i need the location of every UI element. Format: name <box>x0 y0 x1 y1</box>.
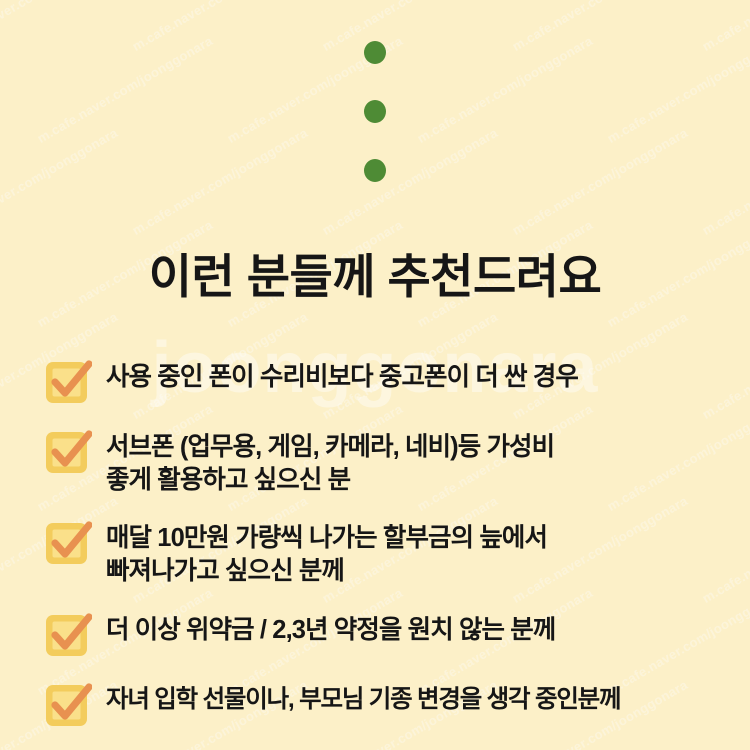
list-item-label: 사용 중인 폰이 수리비보다 중고폰이 더 싼 경우 <box>106 355 578 394</box>
checkbox-checked-icon <box>44 610 92 658</box>
list-item: 매달 10만원 가량씩 나가는 할부금의 늪에서 빠져나가고 싶으신 분께 <box>44 516 734 587</box>
checkbox-checked-icon <box>44 518 92 566</box>
list-item-label: 서브폰 (업무용, 게임, 카메라, 네비)등 가성비 좋게 활용하고 싶으신 … <box>106 425 554 496</box>
checkbox-checked-icon <box>44 357 92 405</box>
recommendation-checklist: 사용 중인 폰이 수리비보다 중고폰이 더 싼 경우 서브폰 (업무용, 게임,… <box>44 355 734 748</box>
page-title: 이런 분들께 추천드려요 <box>0 249 750 304</box>
checkbox-checked-icon <box>44 680 92 728</box>
dot-3-icon <box>364 159 386 182</box>
list-item: 사용 중인 폰이 수리비보다 중고폰이 더 싼 경우 <box>44 355 734 405</box>
dot-decoration-group <box>0 41 750 182</box>
promo-poster: m.cafe.naver.com/joonggonaram.cafe.naver… <box>0 0 750 750</box>
list-item: 자녀 입학 선물이나, 부모님 기종 변경을 생각 중인분께 <box>44 678 734 728</box>
list-item-label: 자녀 입학 선물이나, 부모님 기종 변경을 생각 중인분께 <box>106 678 620 715</box>
list-item-label: 매달 10만원 가량씩 나가는 할부금의 늪에서 빠져나가고 싶으신 분께 <box>106 516 547 587</box>
list-item: 더 이상 위약금 / 2,3년 약정을 원치 않는 분께 <box>44 608 734 658</box>
checkbox-checked-icon <box>44 427 92 475</box>
dot-1-icon <box>364 41 386 64</box>
list-item-label: 더 이상 위약금 / 2,3년 약정을 원치 않는 분께 <box>106 608 555 647</box>
dot-2-icon <box>364 100 386 123</box>
list-item: 서브폰 (업무용, 게임, 카메라, 네비)등 가성비 좋게 활용하고 싶으신 … <box>44 425 734 496</box>
